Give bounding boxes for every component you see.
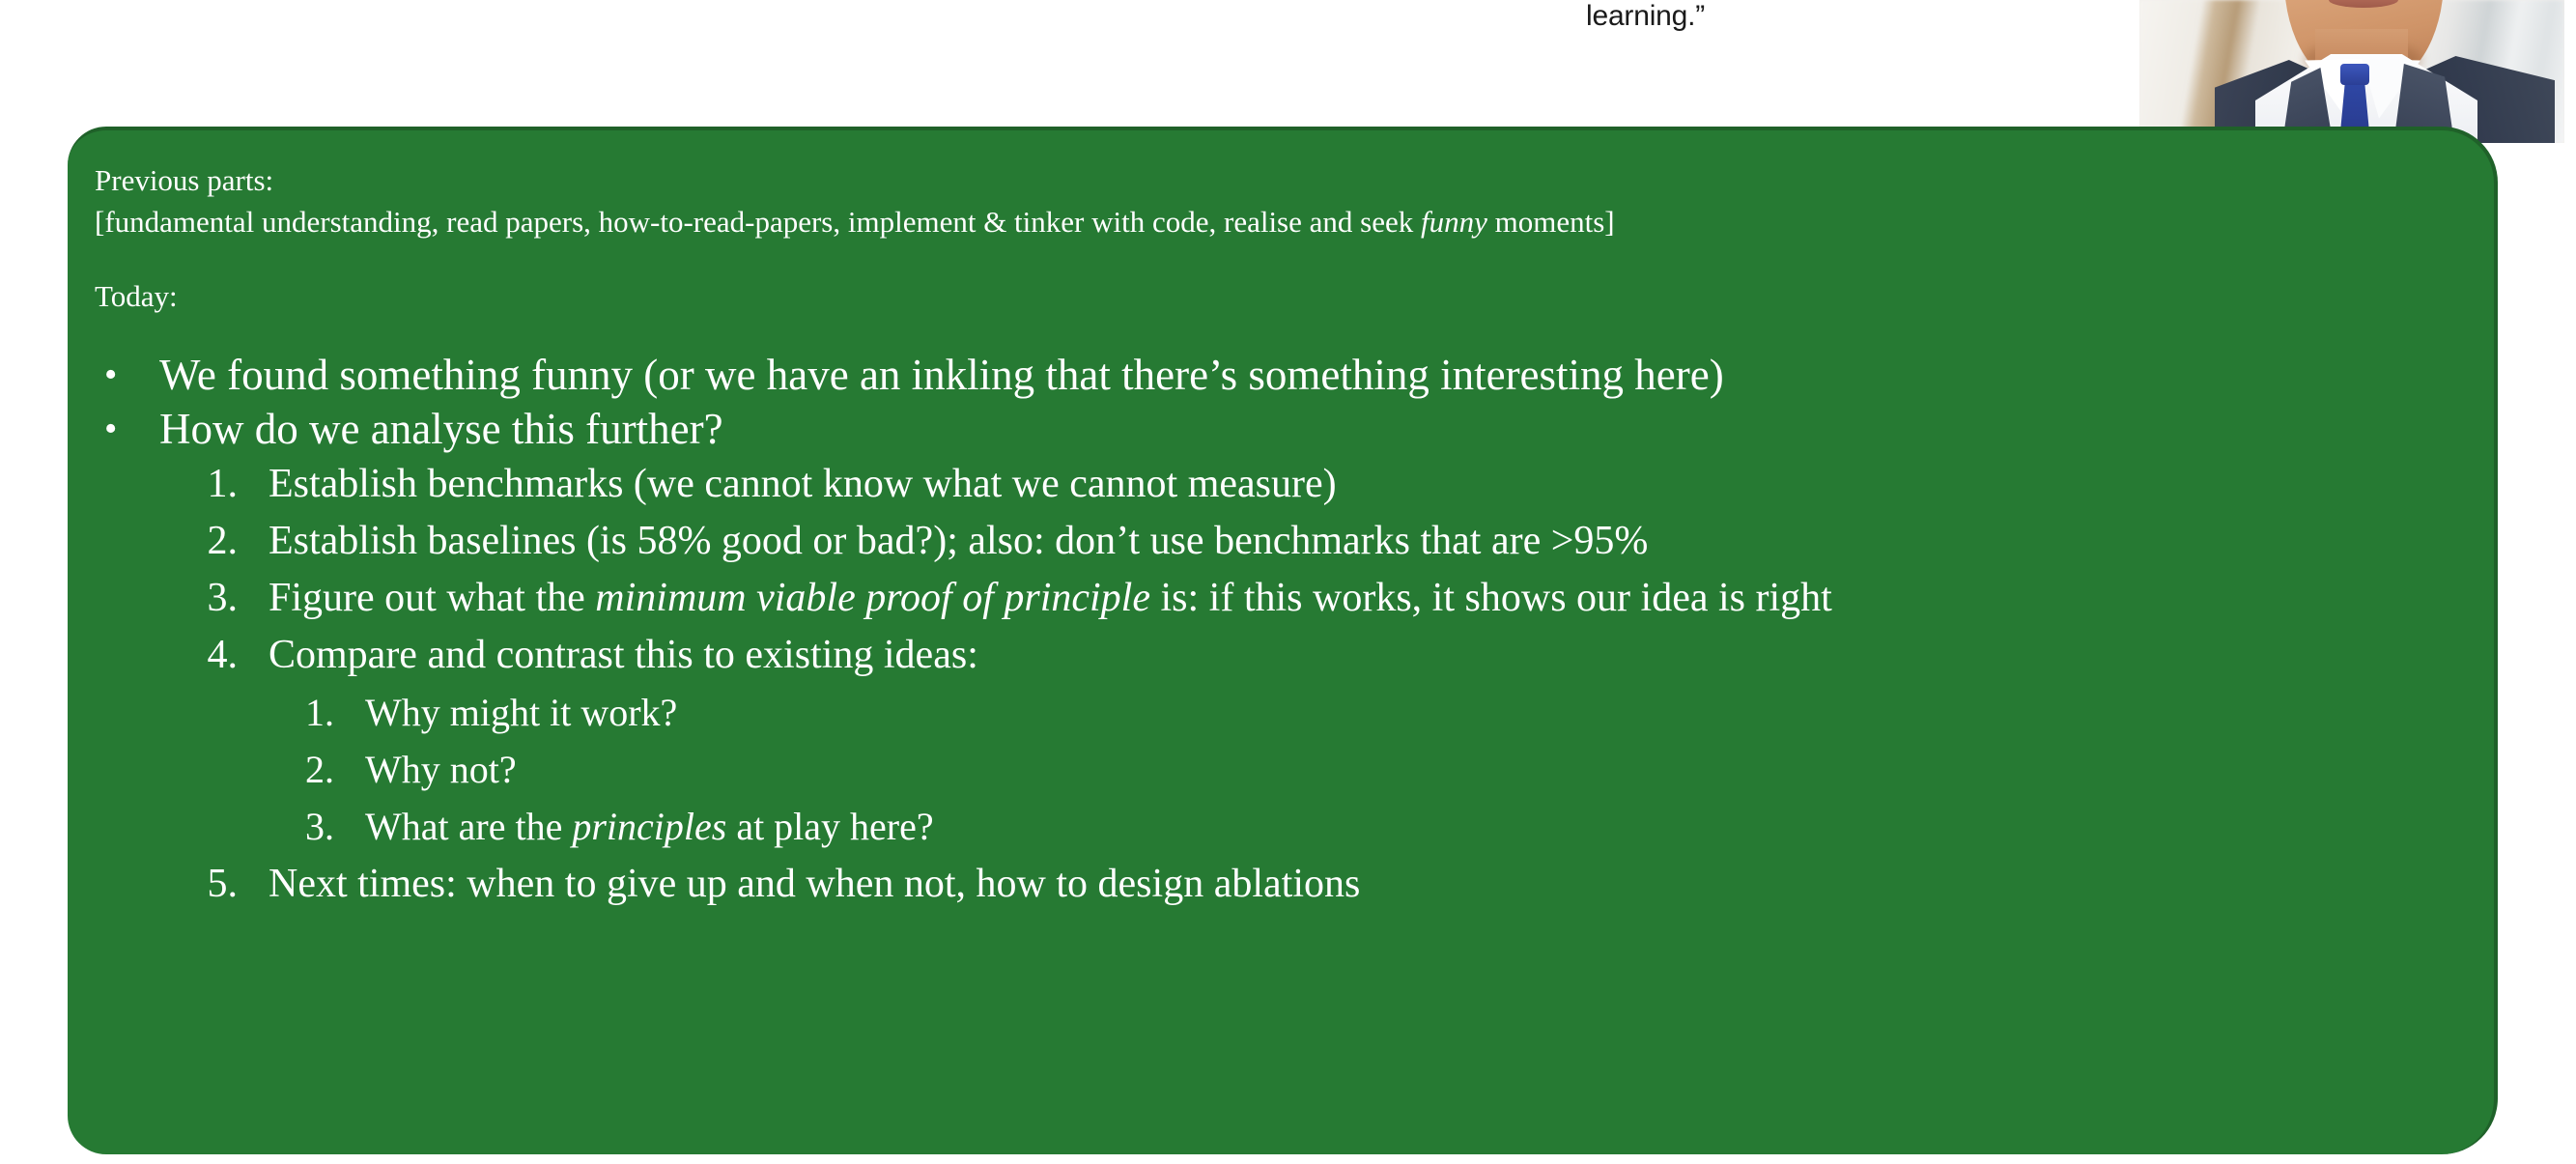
list-item-number: 4. <box>185 630 238 681</box>
bullet-marker: • <box>104 348 117 402</box>
list-item-italic: minimum viable proof of principle <box>595 576 1150 620</box>
list-item-number: 2. <box>185 516 238 567</box>
list-item-label: Establish baselines (is 58% good or bad?… <box>269 516 1648 567</box>
list-item-label: How do we analyse this further? <box>159 402 723 456</box>
list-item-number: 3. <box>185 573 238 624</box>
list-item-number: 2. <box>282 745 334 794</box>
list-item-prefix: What are the <box>365 805 572 848</box>
list-item-label: What are the principles at play here? <box>365 802 934 851</box>
list-item-number: 1. <box>282 688 334 737</box>
list-item-label: We found something funny (or we have an … <box>159 348 1724 402</box>
list-item-suffix: at play here? <box>726 805 933 848</box>
list-item-label: Figure out what the minimum viable proof… <box>269 573 1832 624</box>
list-item-label: Next times: when to give up and when not… <box>269 859 1360 910</box>
list-item-suffix: is: if this works, it shows our idea is … <box>1150 576 1832 620</box>
list-item-italic: principles <box>572 805 726 848</box>
previous-parts-suffix: moments] <box>1487 205 1615 239</box>
list-item-number: 3. <box>282 802 334 851</box>
background-slide: people: experience is the best teacher. … <box>0 0 2576 145</box>
list-item-number: 5. <box>185 859 238 910</box>
previous-parts-italic: funny <box>1421 205 1487 239</box>
list-item-label: Establish benchmarks (we cannot know wha… <box>269 459 1337 510</box>
today-label: Today: <box>95 275 178 317</box>
list-item-number: 1. <box>185 459 238 510</box>
photo-necktie-knot <box>2340 64 2369 85</box>
list-item-label: Why not? <box>365 745 517 794</box>
portrait-photo <box>2139 0 2564 143</box>
quote-text-block: people: experience is the best teacher. … <box>1586 0 2108 35</box>
list-item-label: Why might it work? <box>365 688 677 737</box>
green-content-panel: Previous parts: [fundamental understandi… <box>68 127 2498 1154</box>
previous-parts-list: [fundamental understanding, read papers,… <box>95 201 1615 242</box>
bullet-marker: • <box>104 402 117 456</box>
list-item-prefix: Figure out what the <box>269 576 595 620</box>
previous-parts-prefix: [fundamental understanding, read papers,… <box>95 205 1421 239</box>
list-item-label: Compare and contrast this to existing id… <box>269 630 978 681</box>
previous-parts-label: Previous parts: <box>95 159 273 201</box>
quote-line: learning.” <box>1586 0 2108 35</box>
